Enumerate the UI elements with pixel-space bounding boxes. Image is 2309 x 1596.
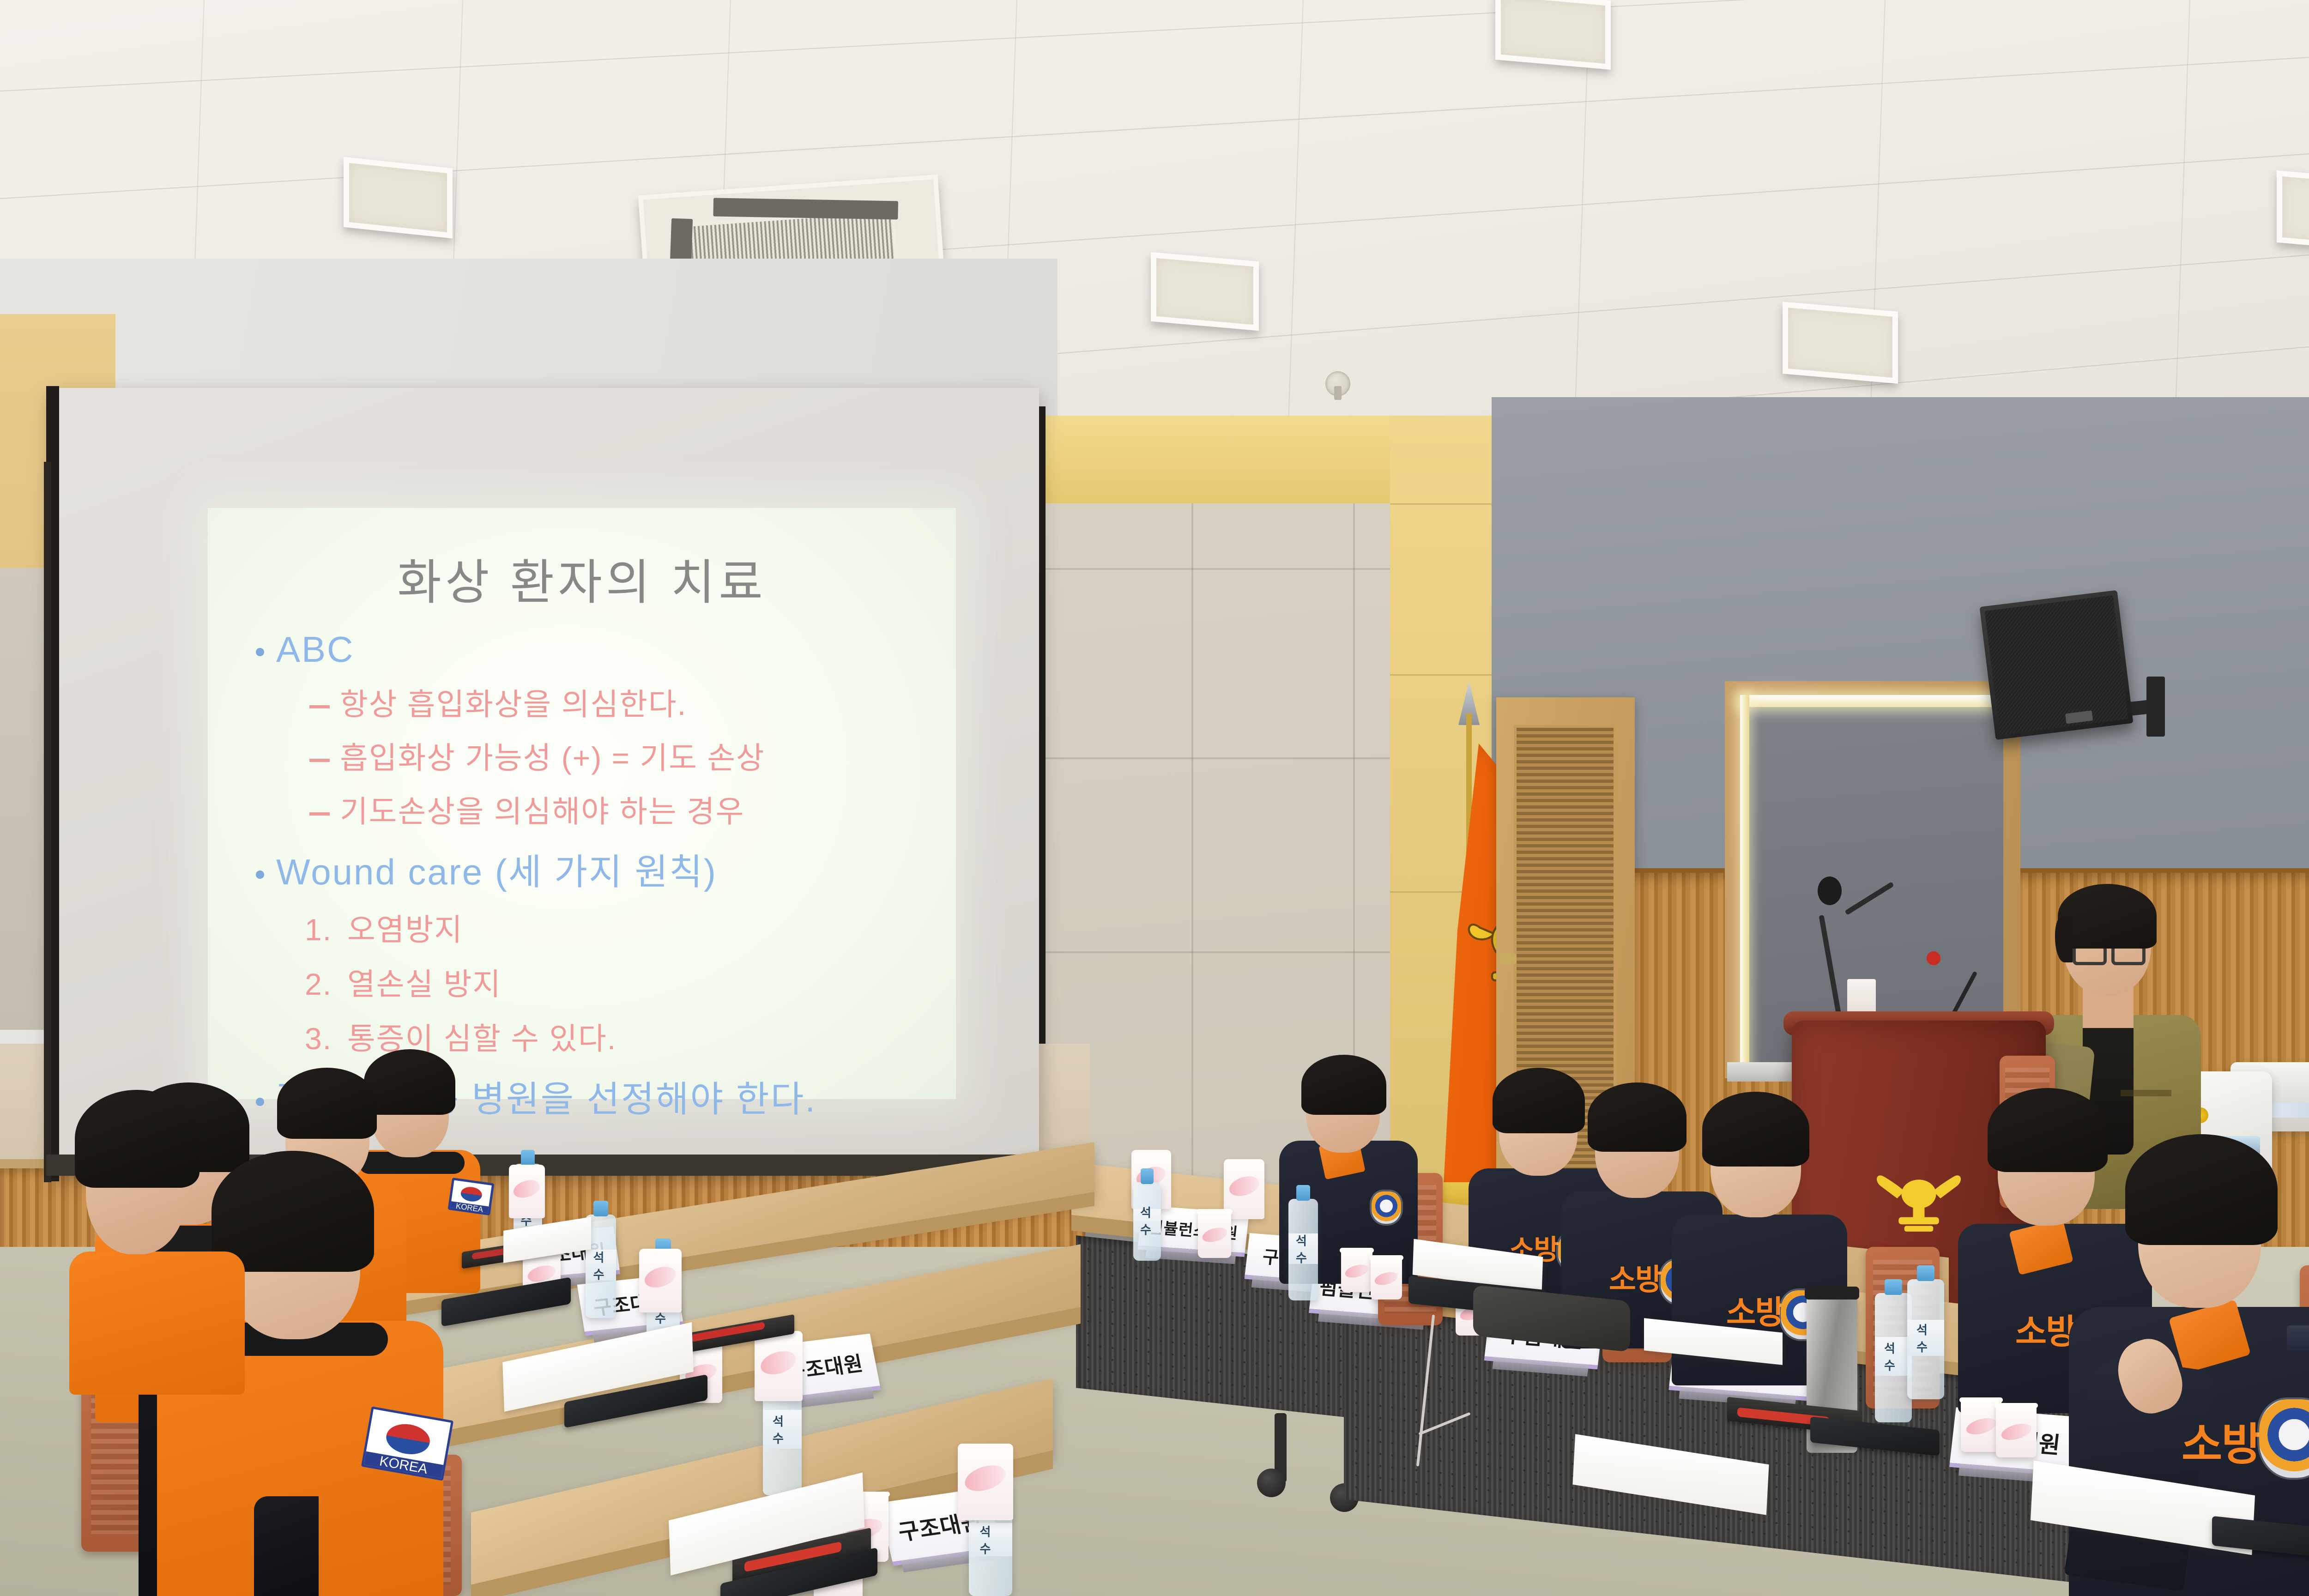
speaker-wall-plate <box>2146 677 2165 737</box>
bottle-label: 석수 <box>969 1523 1012 1556</box>
bottle-label: 석수 <box>1288 1233 1318 1264</box>
ceiling-light-panel <box>1151 252 1259 331</box>
water-bottle: 석수 <box>1875 1293 1912 1422</box>
slide-numbered-item: 2.열손실 방지 <box>305 960 924 1004</box>
bottle-cap <box>593 1201 608 1216</box>
paper-cup <box>509 1165 545 1218</box>
bullet-dot-icon <box>256 648 264 656</box>
slide-bullet-wound-care: Wound care (세 가지 원칙) <box>256 843 924 895</box>
paper-cup <box>1996 1403 2037 1457</box>
tumbler-lid <box>1805 1287 1859 1300</box>
ceiling-light-panel <box>1495 0 1611 70</box>
table-caster <box>1257 1469 1286 1497</box>
bottle-label: 석수 <box>1907 1320 1944 1356</box>
list-number: 1. <box>305 912 347 947</box>
rank-insignia <box>2287 1325 2309 1351</box>
door-handle[interactable] <box>1500 954 1517 964</box>
bottle-label: 석수 <box>586 1250 616 1281</box>
wall-speaker <box>1979 590 2133 740</box>
slide-bullet-abc: ABC <box>256 629 924 671</box>
paper-cup <box>1371 1255 1402 1300</box>
paper-cup <box>1341 1248 1372 1292</box>
bottle-label: 석수 <box>763 1410 802 1449</box>
slide-numbered-item: 1.오염방지 <box>305 905 924 949</box>
paper-cup <box>1198 1209 1231 1258</box>
water-bottle: 석수 <box>1907 1279 1944 1399</box>
slide-sub-bullet: 흡입화상 가능성 (+) = 기도 손상 <box>309 733 924 778</box>
list-number: 2. <box>305 967 347 1002</box>
dash-icon <box>309 812 330 816</box>
bottle-cap <box>1917 1265 1934 1281</box>
list-number: 3. <box>305 1021 347 1056</box>
podium-fire-emblem-icon <box>1875 1164 1963 1233</box>
slide-title: 화상 환자의 치료 <box>240 543 924 613</box>
slide-sub-bullet: 항상 흡입화상을 의심한다. <box>309 680 924 724</box>
ceiling-light-panel <box>1783 302 1898 384</box>
presenter-hair <box>2058 884 2157 949</box>
slide-sub-bullet: 기도손상을 의심해야 하는 경우 <box>309 787 924 831</box>
uniform-text: 소방 <box>1609 1256 1662 1299</box>
dash-icon <box>309 759 330 762</box>
water-bottle: 석수 <box>1288 1199 1318 1300</box>
lecture-room-photo: 화상 환자의 치료 ABC 항상 흡입화상을 의심한다. 흡입화상 가능성 (+… <box>0 0 2309 1596</box>
uniform-text: 소방 <box>2015 1304 2076 1354</box>
uniform-text: 소방 <box>2182 1409 2261 1473</box>
bottle-label: 석수 <box>1875 1337 1912 1376</box>
attendee <box>69 1081 245 1395</box>
uniform-text: 소방 <box>1726 1287 1784 1333</box>
window-light-leak <box>1740 695 1749 1069</box>
dash-icon <box>309 705 330 708</box>
podium-microphone-head <box>1818 877 1842 905</box>
paper-cup <box>958 1444 1013 1520</box>
window-light-leak <box>1740 695 2007 707</box>
ceiling-light-panel <box>344 157 453 239</box>
paper-cup <box>755 1331 803 1401</box>
water-bottle: 석수 <box>1133 1182 1161 1261</box>
projected-slide: 화상 환자의 치료 ABC 항상 흡입화상을 의심한다. 흡입화상 가능성 (+… <box>208 508 956 1099</box>
bottle-label: 석수 <box>1133 1209 1161 1233</box>
paper-cup <box>639 1249 682 1312</box>
bottle-cap <box>1141 1168 1154 1184</box>
bottle-cap <box>521 1150 535 1166</box>
ceiling-light-panel <box>2277 170 2309 253</box>
presenter-microphone-indicator <box>1927 951 1940 965</box>
bottle-cap <box>1885 1279 1902 1295</box>
attendee-side-stripe <box>254 1496 319 1596</box>
projection-screen-roller <box>44 462 51 1182</box>
fire-service-badge-icon <box>1372 1191 1401 1224</box>
bottle-cap <box>1296 1185 1311 1201</box>
bullet-dot-icon <box>256 871 264 879</box>
sprinkler-head <box>1325 371 1350 396</box>
